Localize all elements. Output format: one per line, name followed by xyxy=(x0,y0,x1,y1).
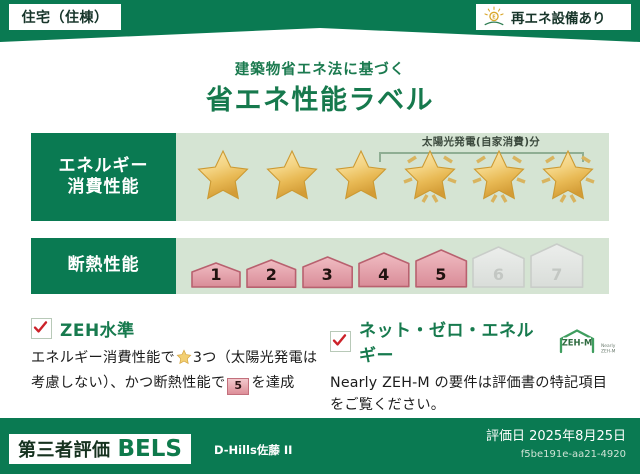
svg-text:Nearly: Nearly xyxy=(601,343,616,349)
insulation-row-label: 断熱性能 xyxy=(31,238,176,294)
sun-icon: E xyxy=(482,6,506,28)
evaluation-date: 評価日 2025年8月25日 xyxy=(486,425,626,444)
energy-row-label: エネルギー 消費性能 xyxy=(31,133,176,221)
net-zero-header: ネット・ゼロ・エネルギー ZEH-M Nearly ZEH-M xyxy=(330,316,620,366)
zeh-standard-block: ZEH水準 エネルギー消費性能で3つ（太陽光発電は考慮しない）、かつ断熱性能で5… xyxy=(31,316,321,395)
page-title: 省エネ性能ラベル xyxy=(0,78,640,117)
energy-performance-label: 住宅（住棟） E 再エネ設備あり 建築物省エネ法に基づく 省エネ性能ラベル xyxy=(0,0,640,474)
insulation-level-5: 5 xyxy=(414,248,468,289)
star-rating xyxy=(176,133,609,221)
building-type-tag: 住宅（住棟） xyxy=(9,4,121,30)
net-zero-description: Nearly ZEH-M の要件は評価書の特記項目をご覧ください。 xyxy=(330,373,620,416)
inline-star-icon xyxy=(176,349,192,373)
star-base xyxy=(330,146,392,208)
energy-row-body: 太陽光発電(自家消費)分 xyxy=(176,133,609,221)
bels-logo-text: BELS xyxy=(118,436,182,462)
star-solar xyxy=(537,146,599,208)
net-zero-checkbox[interactable] xyxy=(330,331,351,352)
insulation-level-label: 5 xyxy=(414,265,468,284)
zeh-desc-part2: 3つ（太陽光発電 xyxy=(193,350,303,366)
zeh-desc-part1: エネルギー消費性能で xyxy=(31,350,175,366)
insulation-level-2: 2 xyxy=(245,258,298,289)
insulation-level-label: 2 xyxy=(245,265,298,284)
zeh-standard-header: ZEH水準 xyxy=(31,316,321,341)
insulation-level-6: 6 xyxy=(471,245,526,289)
svg-text:ZEH-M: ZEH-M xyxy=(601,348,616,354)
label-subtitle: 建築物省エネ法に基づく xyxy=(0,58,640,79)
insulation-level-3: 3 xyxy=(301,255,354,289)
insulation-level-label: 4 xyxy=(357,265,411,284)
star-solar xyxy=(399,146,461,208)
renewable-badge-text: 再エネ設備あり xyxy=(511,7,606,27)
energy-label-line1: エネルギー xyxy=(59,156,149,177)
insulation-level-label: 3 xyxy=(301,265,354,284)
svg-text:ZEH-M: ZEH-M xyxy=(562,338,593,348)
insulation-badge-inline: 5 xyxy=(227,378,249,395)
energy-performance-row: エネルギー 消費性能 太陽光発電(自家消費)分 xyxy=(31,133,609,221)
insulation-level-scale: 1 2 3 4 5 6 xyxy=(176,238,609,294)
zeh-standard-description: エネルギー消費性能で3つ（太陽光発電は考慮しない）、かつ断熱性能で5を達成 xyxy=(31,348,321,395)
insulation-level-label: 7 xyxy=(529,265,585,284)
insulation-level-4: 4 xyxy=(357,251,411,289)
zeh-standard-title: ZEH水準 xyxy=(60,316,135,341)
insulation-row-body: 1 2 3 4 5 6 xyxy=(176,238,609,294)
star-base xyxy=(261,146,323,208)
document-id: f5be191e-aa21-4920 xyxy=(521,449,626,460)
zeh-desc-part4: を達成 xyxy=(251,375,294,391)
insulation-level-1: 1 xyxy=(190,261,242,289)
insulation-level-7: 7 xyxy=(529,242,585,289)
svg-text:E: E xyxy=(492,15,496,21)
energy-label-line2: 消費性能 xyxy=(68,177,140,198)
insulation-level-label: 1 xyxy=(190,265,242,284)
insulation-level-label: 6 xyxy=(471,265,526,284)
insulation-label-text: 断熱性能 xyxy=(68,255,140,276)
third-party-label: 第三者評価 xyxy=(18,436,111,462)
star-solar xyxy=(468,146,530,208)
bels-evaluation-box: 第三者評価 BELS xyxy=(9,434,191,464)
net-zero-title: ネット・ゼロ・エネルギー xyxy=(359,316,543,366)
building-type-text: 住宅（住棟） xyxy=(22,7,109,27)
net-zero-energy-block: ネット・ゼロ・エネルギー ZEH-M Nearly ZEH-M Nearly Z… xyxy=(330,316,620,416)
zeh-m-logo: ZEH-M Nearly ZEH-M xyxy=(557,328,620,354)
property-name: D-Hills佐藤 II xyxy=(214,442,292,458)
insulation-performance-row: 断熱性能 1 2 3 4 xyxy=(31,238,609,294)
star-base xyxy=(192,146,254,208)
renewable-equipment-badge: E 再エネ設備あり xyxy=(476,4,631,30)
zeh-standard-checkbox[interactable] xyxy=(31,318,52,339)
